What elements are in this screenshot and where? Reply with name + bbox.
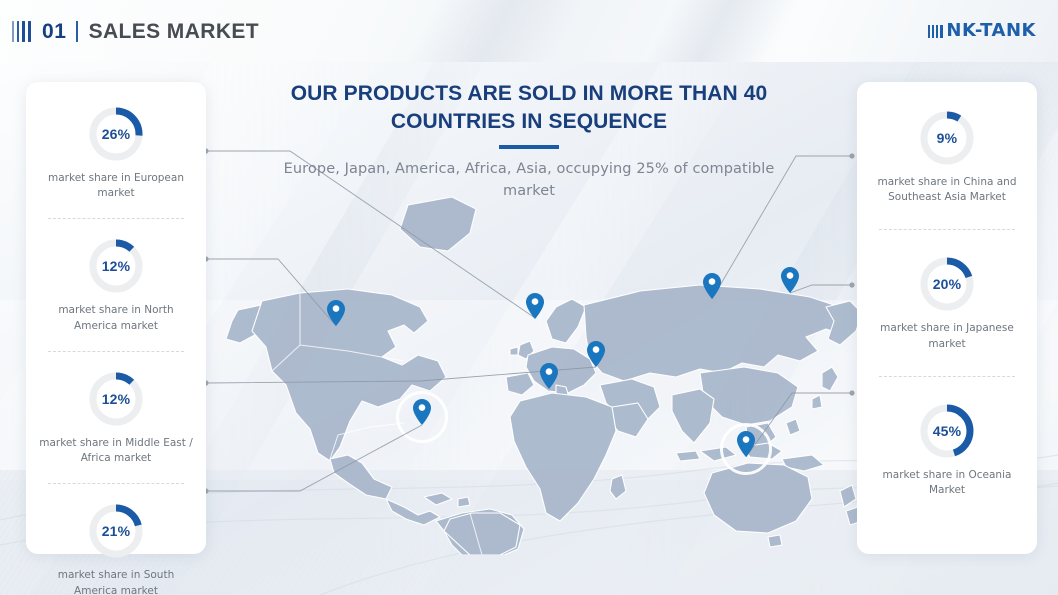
map-pin-africa[interactable] [540, 363, 558, 394]
donut-wrap: 12% [86, 236, 146, 296]
left-stats-panel: 26% market share in European market 12% … [26, 82, 206, 554]
stat-card[interactable]: 12% market share in North America market [26, 219, 206, 350]
donut-wrap: 45% [917, 401, 977, 461]
donut-percent-label: 26% [86, 104, 146, 164]
donut-percent-label: 20% [917, 254, 977, 314]
stat-card[interactable]: 12% market share in Middle East / Africa… [26, 352, 206, 483]
donut-percent-label: 12% [86, 236, 146, 296]
stat-card[interactable]: 9% market share in China and Southeast A… [857, 82, 1037, 229]
location-pin-icon [703, 273, 721, 299]
logo-text: NK-TANK [946, 22, 1036, 40]
map-pin-oceania[interactable] [737, 431, 755, 462]
location-pin-icon [737, 431, 755, 457]
stat-label: market share in Middle East / Africa mar… [26, 436, 206, 466]
slide-header: 01 SALES MARKET NK-TANK [0, 0, 1058, 62]
stat-label: market share in South America market [26, 568, 206, 595]
donut-wrap: 26% [86, 104, 146, 164]
page-subtitle: Europe, Japan, America, Africa, Asia, oc… [269, 159, 789, 203]
map-pin-south-america[interactable] [413, 399, 431, 430]
location-pin-icon [327, 300, 345, 326]
stat-label: market share in European market [26, 171, 206, 201]
location-pin-icon [526, 293, 544, 319]
map-pin-east-asia[interactable] [781, 267, 799, 298]
title-divider [499, 145, 559, 149]
location-pin-icon [540, 363, 558, 389]
stat-label: market share in Oceania Market [857, 468, 1037, 498]
header-left-group: 01 SALES MARKET [12, 0, 259, 62]
map-pin-europe[interactable] [526, 293, 544, 324]
stat-card[interactable]: 21% market share in South America market [26, 484, 206, 595]
donut-percent-label: 12% [86, 369, 146, 429]
stat-label: market share in North America market [26, 303, 206, 333]
donut-wrap: 12% [86, 369, 146, 429]
donut-wrap: 20% [917, 254, 977, 314]
location-pin-icon [413, 399, 431, 425]
section-number: 01 [42, 21, 67, 42]
donut-percent-label: 9% [917, 108, 977, 168]
donut-wrap: 21% [86, 501, 146, 561]
location-pin-icon [781, 267, 799, 293]
bars-icon [12, 21, 31, 42]
title-block: OUR PRODUCTS ARE SOLD IN MORE THAN 40 CO… [269, 80, 789, 202]
map-pin-north-america[interactable] [327, 300, 345, 331]
donut-percent-label: 21% [86, 501, 146, 561]
page-title: OUR PRODUCTS ARE SOLD IN MORE THAN 40 CO… [269, 80, 789, 136]
header-title: SALES MARKET [89, 21, 259, 42]
location-pin-icon [587, 341, 605, 367]
stat-label: market share in Japanese market [857, 321, 1037, 351]
map-pin-central-asia[interactable] [703, 273, 721, 304]
right-stats-panel: 9% market share in China and Southeast A… [857, 82, 1037, 554]
donut-wrap: 9% [917, 108, 977, 168]
stat-card[interactable]: 20% market share in Japanese market [857, 230, 1037, 375]
map-pin-middle-east[interactable] [587, 341, 605, 372]
brand-logo[interactable]: NK-TANK [928, 0, 1036, 62]
stat-card[interactable]: 26% market share in European market [26, 82, 206, 218]
logo-bars-icon [928, 25, 943, 38]
header-divider-icon [76, 21, 78, 42]
stat-label: market share in China and Southeast Asia… [857, 175, 1037, 205]
donut-percent-label: 45% [917, 401, 977, 461]
stat-card[interactable]: 45% market share in Oceania Market [857, 377, 1037, 522]
